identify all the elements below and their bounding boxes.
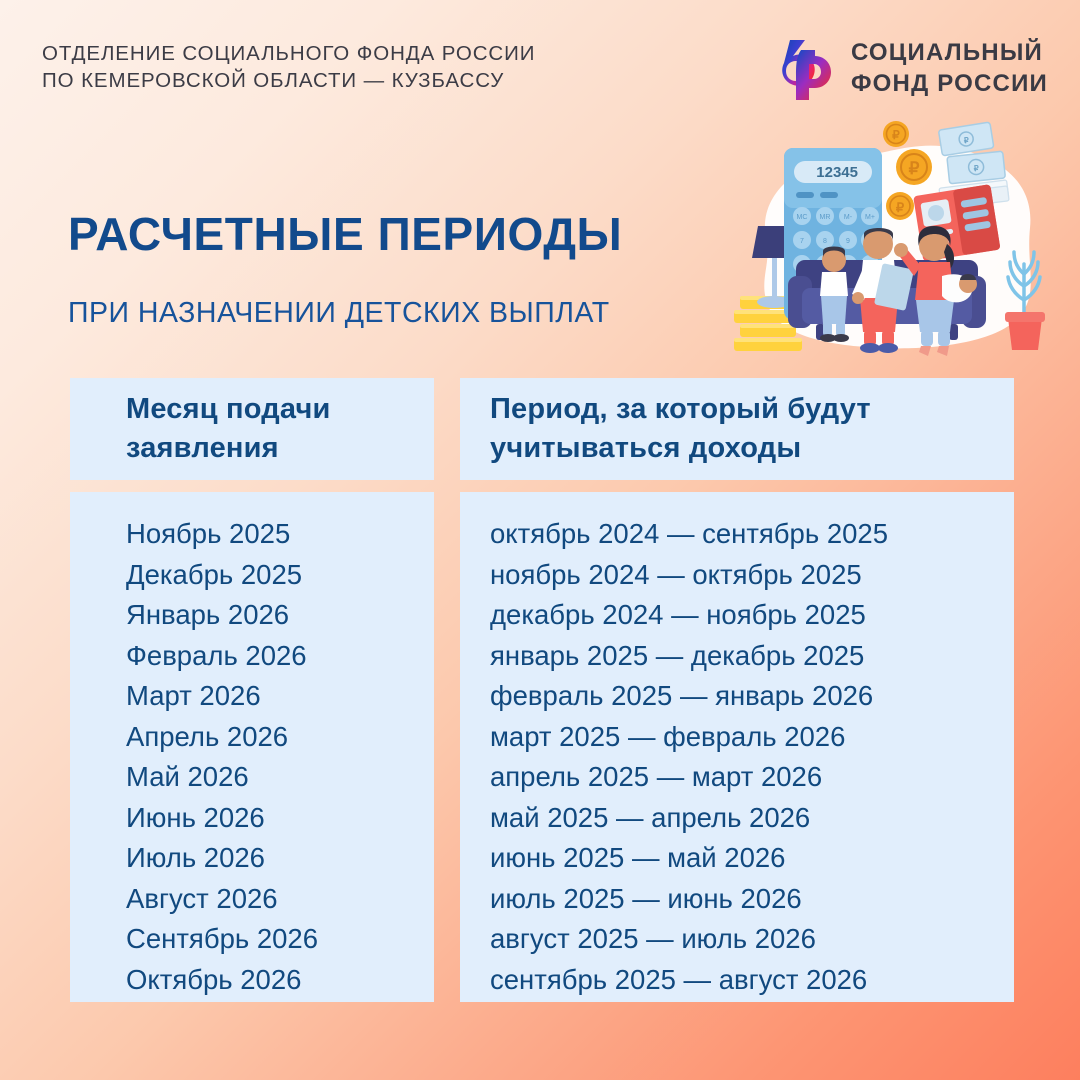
- header-period-line-1: Период, за который будут: [490, 390, 992, 429]
- table-row-month: Апрель 2026: [126, 717, 434, 758]
- table-row-period: октябрь 2024 — сентябрь 2025: [490, 514, 1014, 555]
- poster-canvas: ОТДЕЛЕНИЕ СОЦИАЛЬНОГО ФОНДА РОССИИ ПО КЕ…: [0, 0, 1080, 1080]
- table-body-month: Ноябрь 2025Декабрь 2025Январь 2026Феврал…: [70, 492, 434, 1002]
- table-row-month: Март 2026: [126, 676, 434, 717]
- table-row-month: Октябрь 2026: [126, 960, 434, 1001]
- table-header-period: Период, за который будут учитываться дох…: [460, 378, 1014, 480]
- table-row-month: Февраль 2026: [126, 636, 434, 677]
- table-row-period: ноябрь 2024 — октябрь 2025: [490, 555, 1014, 596]
- table-row-period: март 2025 — февраль 2026: [490, 717, 1014, 758]
- table-row-period: июнь 2025 — май 2026: [490, 838, 1014, 879]
- table-row-month: Август 2026: [126, 879, 434, 920]
- table-row-period: сентябрь 2025 — август 2026: [490, 960, 1014, 1001]
- table-header-month: Месяц подачи заявления: [70, 378, 434, 480]
- table-row-period: декабрь 2024 — ноябрь 2025: [490, 595, 1014, 636]
- table-row-month: Декабрь 2025: [126, 555, 434, 596]
- header-period-line-2: учитываться доходы: [490, 429, 992, 468]
- table-row-month: Сентябрь 2026: [126, 919, 434, 960]
- table-row-period: январь 2025 — декабрь 2025: [490, 636, 1014, 677]
- header-month-line-1: Месяц подачи: [126, 390, 412, 429]
- table-row-month: Июль 2026: [126, 838, 434, 879]
- table-row-month: Ноябрь 2025: [126, 514, 434, 555]
- table-row-month: Май 2026: [126, 757, 434, 798]
- header-month-line-2: заявления: [126, 429, 412, 468]
- table-body-period: октябрь 2024 — сентябрь 2025ноябрь 2024 …: [460, 492, 1014, 1002]
- table-row-period: август 2025 — июль 2026: [490, 919, 1014, 960]
- table-row-period: май 2025 — апрель 2026: [490, 798, 1014, 839]
- periods-table: Месяц подачи заявления Период, за которы…: [0, 0, 1080, 1080]
- table-row-month: Январь 2026: [126, 595, 434, 636]
- table-row-period: февраль 2025 — январь 2026: [490, 676, 1014, 717]
- table-row-period: июль 2025 — июнь 2026: [490, 879, 1014, 920]
- table-row-period: апрель 2025 — март 2026: [490, 757, 1014, 798]
- table-row-month: Июнь 2026: [126, 798, 434, 839]
